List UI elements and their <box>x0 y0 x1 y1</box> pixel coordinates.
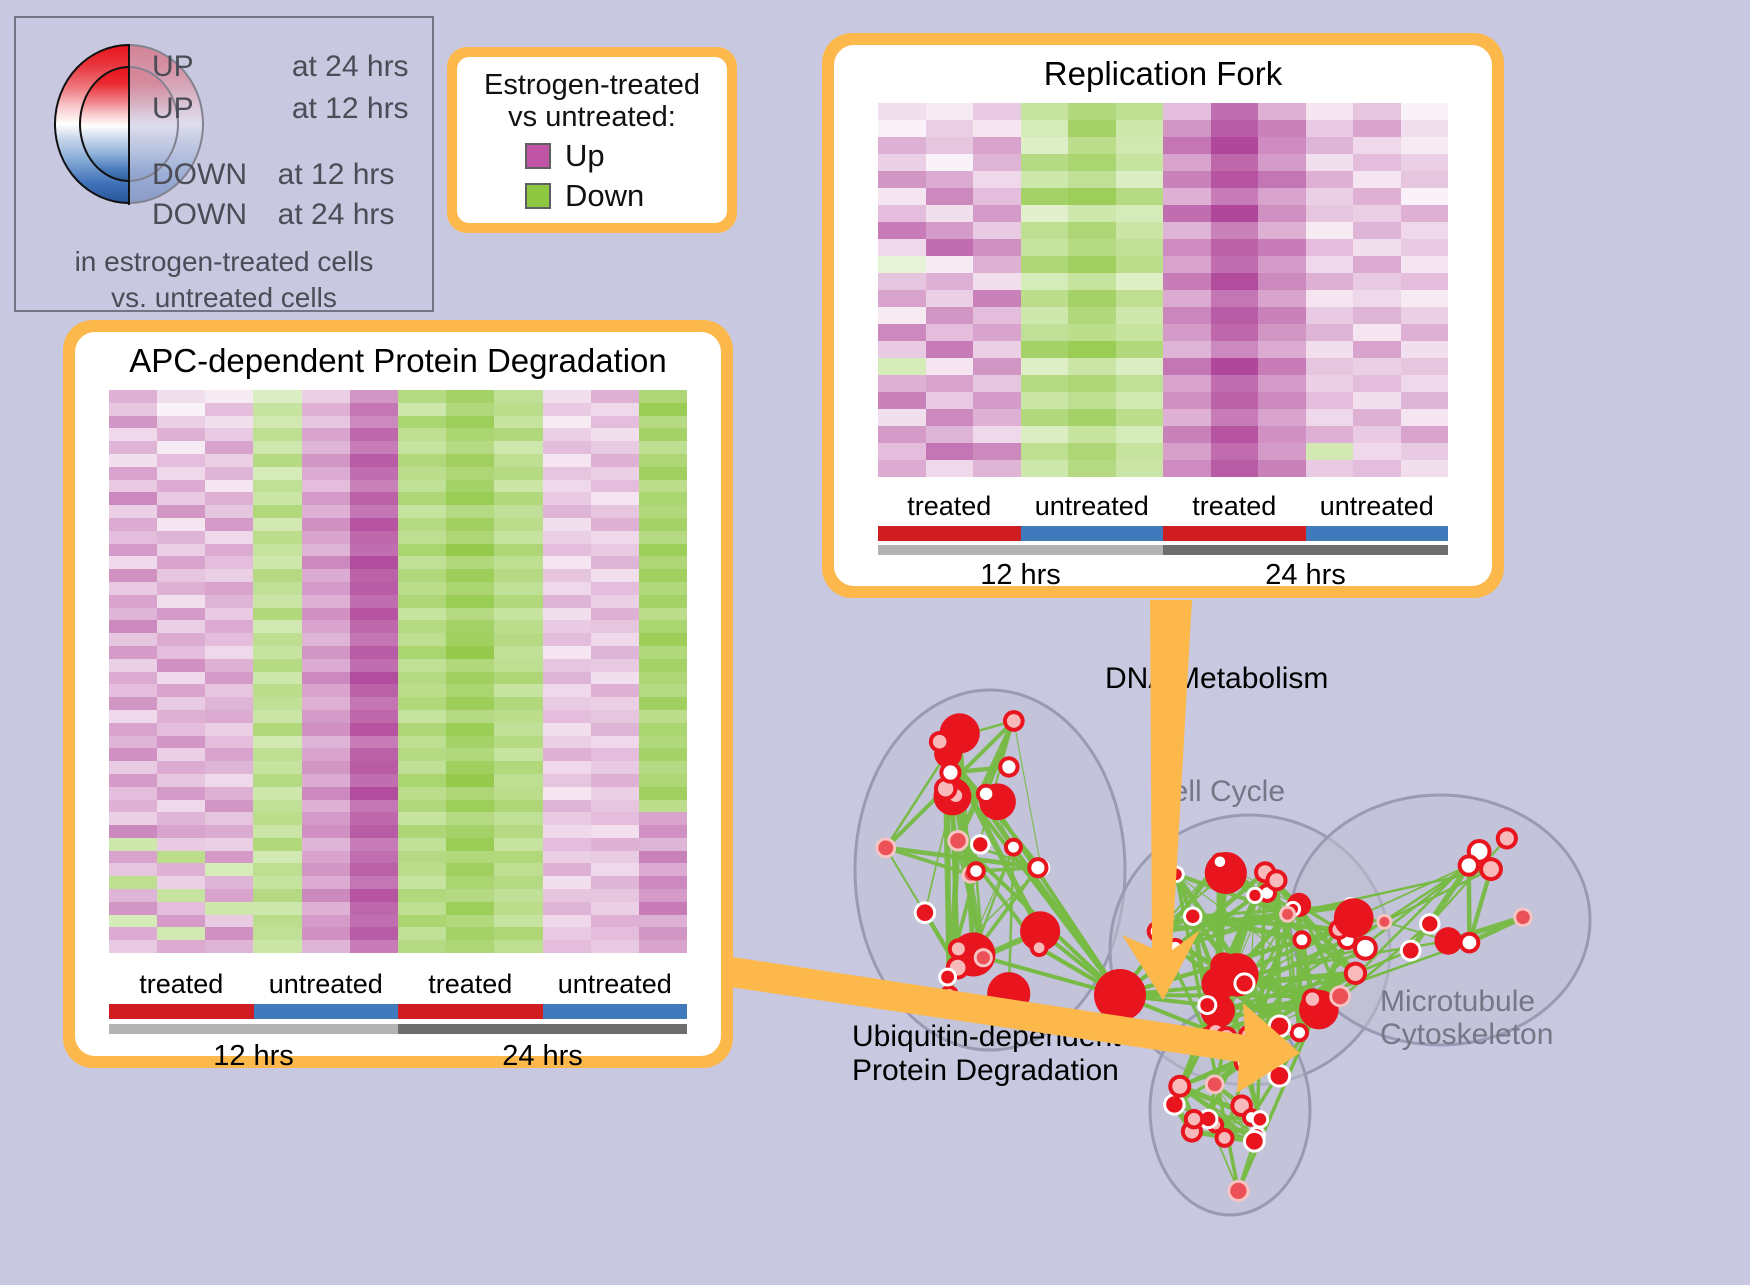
heatmap-cell <box>1021 358 1069 375</box>
heatmap-cell <box>205 800 253 813</box>
network-edge <box>1469 865 1470 942</box>
heatmap-cell <box>973 239 1021 256</box>
heatmap-cell <box>109 915 157 928</box>
heatmap-cell <box>1211 426 1259 443</box>
heatmap-cell <box>157 684 205 697</box>
heatmap-cell <box>973 341 1021 358</box>
heatmap-cell <box>205 659 253 672</box>
heatmap-cell <box>302 927 350 940</box>
network-node-core <box>1296 934 1307 945</box>
heatmap-cell <box>1116 188 1164 205</box>
heatmap-cell <box>543 851 591 864</box>
heatmap-cell <box>1211 256 1259 273</box>
heatmap-cell <box>494 825 542 838</box>
heatmap-cell <box>639 454 687 467</box>
heatmap-cell <box>109 748 157 761</box>
heatmap-cell <box>302 774 350 787</box>
heatmap-cell <box>398 748 446 761</box>
heatmap-cell <box>398 480 446 493</box>
axis-label-untreated-24: untreated <box>1306 491 1449 522</box>
heatmap-cell <box>1306 307 1354 324</box>
heatmap-cell <box>591 812 639 825</box>
heatmap-cell <box>157 390 205 403</box>
heatmap-cell <box>1163 392 1211 409</box>
heatmap-cell <box>157 902 205 915</box>
network-node-core <box>1007 714 1021 728</box>
network-node-core <box>970 865 982 877</box>
network-node-core <box>1188 1113 1200 1125</box>
heatmap-cell <box>350 403 398 416</box>
colorbar-divider <box>128 44 130 205</box>
heatmap-cell <box>1401 222 1449 239</box>
heatmap-cell <box>205 556 253 569</box>
heatmap-cell <box>639 620 687 633</box>
heatmap-cell <box>253 608 301 621</box>
heatmap-cell <box>302 480 350 493</box>
heatmap-cell <box>446 492 494 505</box>
heatmap-cell <box>1258 154 1306 171</box>
heatmap-cell <box>109 646 157 659</box>
heatmap-cell <box>591 633 639 646</box>
heatmap-cell <box>398 492 446 505</box>
heatmap-cell <box>543 710 591 723</box>
heatmap-cell <box>398 441 446 454</box>
heatmap-cell <box>1211 103 1259 120</box>
heatmap-cell <box>878 103 926 120</box>
heatmap-cell <box>302 428 350 441</box>
heatmap-cell <box>973 375 1021 392</box>
heatmap-cell <box>494 646 542 659</box>
heatmap-cell <box>302 454 350 467</box>
heatmap-cell <box>1306 205 1354 222</box>
heatmap-cell <box>205 633 253 646</box>
heatmap-cell <box>494 748 542 761</box>
heatmap-cell <box>253 582 301 595</box>
heatmap-cell <box>1021 375 1069 392</box>
heatmap-cell <box>973 443 1021 460</box>
network-node <box>878 840 893 855</box>
heatmap-cell <box>109 595 157 608</box>
heatmap-cell <box>350 748 398 761</box>
network-node <box>1332 988 1348 1004</box>
heatmap-cell <box>494 697 542 710</box>
heatmap-cell <box>350 774 398 787</box>
heatmap-cell <box>1068 256 1116 273</box>
heatmap-cell <box>591 441 639 454</box>
heatmap-cell <box>591 902 639 915</box>
heatmap-cell <box>1211 188 1259 205</box>
heatmap-cell <box>205 672 253 685</box>
heatmap-cell <box>205 902 253 915</box>
heatmap-cell <box>1068 222 1116 239</box>
network-node <box>1166 1096 1182 1112</box>
heatmap-cell <box>253 800 301 813</box>
heatmap-cell <box>543 428 591 441</box>
heatmap-cell <box>1163 154 1211 171</box>
heatmap-cell <box>1401 103 1449 120</box>
network-node <box>917 904 934 921</box>
heatmap-cell <box>1258 358 1306 375</box>
heatmap-cell <box>302 812 350 825</box>
heatmap-cell <box>878 154 926 171</box>
heatmap-cell <box>350 556 398 569</box>
heatmap-cell <box>1021 409 1069 426</box>
heatmap-cell <box>1068 324 1116 341</box>
heatmap-cell <box>1021 222 1069 239</box>
heatmap-cell <box>398 940 446 953</box>
time-label-12hrs: 12 hrs <box>878 559 1163 592</box>
heatmap-cell <box>157 748 205 761</box>
heatmap-cell <box>205 812 253 825</box>
heatmap-cell <box>494 480 542 493</box>
heatmap-cell <box>1211 273 1259 290</box>
heatmap-cell <box>109 480 157 493</box>
heatmap-cell <box>205 927 253 940</box>
heatmap-cell <box>494 684 542 697</box>
heatmap-cell <box>1353 290 1401 307</box>
heatmap-cell <box>302 825 350 838</box>
heatmap-cell <box>446 684 494 697</box>
heatmap-cell <box>350 454 398 467</box>
heatmap-cell <box>253 927 301 940</box>
heatmap-cell <box>1353 205 1401 222</box>
heatmap-cell <box>1353 222 1401 239</box>
heatmap-cell <box>398 723 446 736</box>
heatmap-cell <box>591 940 639 953</box>
heatmap-cell <box>1211 290 1259 307</box>
heatmap-cell <box>1258 171 1306 188</box>
colorbar-time-1: at 12 hrs <box>292 92 409 125</box>
heatmap-cell <box>446 876 494 889</box>
heatmap-cell <box>253 876 301 889</box>
heatmap-cell <box>253 646 301 659</box>
heatmap-cell <box>878 120 926 137</box>
heatmap-cell <box>1353 307 1401 324</box>
heatmap-cell <box>1068 205 1116 222</box>
colorbar-label-0: UP <box>152 50 193 83</box>
cluster-label-protein-degradation: Protein Degradation <box>852 1054 1121 1088</box>
heatmap-cell <box>253 812 301 825</box>
heatmap-cell <box>350 633 398 646</box>
heatmap-cell <box>205 416 253 429</box>
heatmap-cell <box>1116 341 1164 358</box>
colorbar-note-line1: in estrogen-treated cells <box>16 246 432 278</box>
legend-label-up: Up <box>565 138 605 174</box>
heatmap-cell <box>1353 341 1401 358</box>
heatmap-cell <box>494 889 542 902</box>
heatmap-cell <box>157 876 205 889</box>
heatmap-cell <box>1068 426 1116 443</box>
heatmap-cell <box>1258 375 1306 392</box>
heatmap-cell <box>1306 222 1354 239</box>
heatmap-cell <box>302 800 350 813</box>
network-node-core <box>1151 925 1164 938</box>
heatmap-cell <box>1068 120 1116 137</box>
heatmap-cell <box>109 390 157 403</box>
panel-title-apc: APC-dependent Protein Degradation <box>129 342 667 380</box>
heatmap-cell <box>157 569 205 582</box>
heatmap-cell <box>1353 358 1401 375</box>
heatmap-cell <box>350 531 398 544</box>
network-node-core <box>1483 861 1499 877</box>
heatmap-cell <box>1021 239 1069 256</box>
heatmap-cell <box>253 774 301 787</box>
heatmap-cell <box>157 544 205 557</box>
up-swatch-icon <box>525 143 551 169</box>
bar-12hrs <box>109 1024 398 1034</box>
heatmap-cell <box>973 290 1021 307</box>
heatmap-cell <box>157 531 205 544</box>
heatmap-cell <box>109 659 157 672</box>
heatmap-cell <box>543 595 591 608</box>
heatmap-cell <box>109 684 157 697</box>
heatmap-cell <box>1116 409 1164 426</box>
heatmap-cell <box>1163 239 1211 256</box>
heatmap-cell <box>350 697 398 710</box>
heatmap-cell <box>926 171 974 188</box>
heatmap-cell <box>639 403 687 416</box>
network-node-core <box>1500 831 1514 845</box>
heatmap-cell <box>1401 290 1449 307</box>
heatmap-cell <box>1353 256 1401 273</box>
heatmap-cell <box>157 556 205 569</box>
heatmap-cell <box>205 876 253 889</box>
heatmap-cell <box>350 851 398 864</box>
heatmap-cell <box>1211 392 1259 409</box>
heatmap-cell <box>109 569 157 582</box>
heatmap-cell <box>591 492 639 505</box>
heatmap-cell <box>302 659 350 672</box>
heatmap-cell <box>446 467 494 480</box>
heatmap-cell <box>398 428 446 441</box>
heatmap-cell <box>543 556 591 569</box>
heatmap-cell <box>446 710 494 723</box>
network-node <box>1334 898 1374 938</box>
heatmap-cell <box>302 940 350 953</box>
heatmap-cell <box>1021 426 1069 443</box>
heatmap-cell <box>1353 324 1401 341</box>
heatmap-cell <box>639 646 687 659</box>
heatmap-cell <box>157 454 205 467</box>
heatmap-cell <box>1353 443 1401 460</box>
heatmap-cell <box>109 889 157 902</box>
heatmap-cell <box>973 273 1021 290</box>
heatmap-cell <box>350 428 398 441</box>
heatmap-cell <box>639 825 687 838</box>
heatmap-cell <box>591 710 639 723</box>
heatmap-cell <box>926 409 974 426</box>
heatmap-apc-degradation <box>109 390 687 953</box>
heatmap-cell <box>109 851 157 864</box>
heatmap-cell <box>205 569 253 582</box>
heatmap-cell <box>543 416 591 429</box>
heatmap-cell <box>639 876 687 889</box>
heatmap-cell <box>1211 341 1259 358</box>
heatmap-cell <box>878 324 926 341</box>
network-node-core <box>1306 992 1319 1005</box>
cluster-label-ubiquitin: Ubiquitin-dependent <box>852 1020 1121 1054</box>
heatmap-cell <box>157 889 205 902</box>
heatmap-cell <box>302 467 350 480</box>
heatmap-cell <box>494 812 542 825</box>
heatmap-cell <box>591 595 639 608</box>
heatmap-cell <box>398 531 446 544</box>
heatmap-cell <box>302 531 350 544</box>
heatmap-cell <box>446 748 494 761</box>
network-node-core <box>1269 873 1283 887</box>
heatmap-cell <box>639 800 687 813</box>
heatmap-cell <box>543 812 591 825</box>
heatmap-cell <box>157 851 205 864</box>
bar-untreated-12 <box>1021 526 1164 541</box>
heatmap-cell <box>973 358 1021 375</box>
heatmap-cell <box>543 838 591 851</box>
heatmap-cell <box>1306 256 1354 273</box>
heatmap-cell <box>302 748 350 761</box>
heatmap-cell <box>494 582 542 595</box>
heatmap-cell <box>1021 154 1069 171</box>
colorbar-time-2: at 12 hrs <box>278 158 395 191</box>
heatmap-cell <box>1258 426 1306 443</box>
heatmap-cell <box>591 787 639 800</box>
heatmap-cell <box>1258 392 1306 409</box>
heatmap-cell <box>926 188 974 205</box>
heatmap-cell <box>157 825 205 838</box>
heatmap-cell <box>494 863 542 876</box>
heatmap-cell <box>973 171 1021 188</box>
heatmap-cell <box>494 710 542 723</box>
network-node-core <box>1034 942 1045 953</box>
heatmap-cell <box>543 646 591 659</box>
heatmap-cell <box>1401 154 1449 171</box>
heatmap-cell <box>1068 358 1116 375</box>
heatmap-cell <box>109 876 157 889</box>
heatmap-cell <box>1021 341 1069 358</box>
heatmap-cell <box>543 736 591 749</box>
heatmap-cell <box>639 556 687 569</box>
heatmap-cell <box>350 505 398 518</box>
heatmap-cell <box>398 505 446 518</box>
heatmap-cell <box>302 569 350 582</box>
heatmap-cell <box>639 736 687 749</box>
heatmap-cell <box>543 454 591 467</box>
time-bar-replication <box>878 545 1448 555</box>
heatmap-cell <box>350 646 398 659</box>
heatmap-cell <box>253 428 301 441</box>
heatmap-cell <box>398 889 446 902</box>
heatmap-cell <box>878 239 926 256</box>
heatmap-cell <box>878 307 926 324</box>
heatmap-cell <box>926 358 974 375</box>
heatmap-cell <box>302 620 350 633</box>
heatmap-cell <box>591 582 639 595</box>
heatmap-cell <box>591 390 639 403</box>
heatmap-cell <box>205 390 253 403</box>
heatmap-cell <box>350 761 398 774</box>
network-node-core <box>943 765 957 779</box>
heatmap-cell <box>1116 137 1164 154</box>
heatmap-cell <box>1211 307 1259 324</box>
heatmap-cell <box>350 659 398 672</box>
heatmap-cell <box>1021 205 1069 222</box>
heatmap-cell <box>973 154 1021 171</box>
heatmap-cell <box>109 902 157 915</box>
heatmap-cell <box>205 787 253 800</box>
heatmap-cell <box>926 137 974 154</box>
heatmap-cell <box>1401 409 1449 426</box>
network-node-core <box>980 788 992 800</box>
heatmap-cell <box>350 492 398 505</box>
heatmap-cell <box>1021 443 1069 460</box>
axis-labels-replication: treated untreated treated untreated <box>878 491 1448 522</box>
heatmap-cell <box>543 582 591 595</box>
network-node-core <box>1215 856 1226 867</box>
heatmap-cell <box>878 205 926 222</box>
heatmap-cell <box>157 646 205 659</box>
heatmap-cell <box>253 736 301 749</box>
heatmap-cell <box>205 838 253 851</box>
heatmap-cell <box>398 787 446 800</box>
heatmap-cell <box>253 710 301 723</box>
cluster-label-microtubule-cytoskeleton: Microtubule Cytoskeleton <box>1380 985 1553 1051</box>
heatmap-cell <box>446 403 494 416</box>
heatmap-cell <box>253 697 301 710</box>
heatmap-cell <box>1306 409 1354 426</box>
heatmap-cell <box>446 620 494 633</box>
heatmap-cell <box>205 403 253 416</box>
heatmap-cell <box>591 467 639 480</box>
heatmap-cell <box>1163 375 1211 392</box>
heatmap-cell <box>1258 188 1306 205</box>
heatmap-cell <box>494 940 542 953</box>
heatmap-cell <box>494 723 542 736</box>
heatmap-cell <box>398 838 446 851</box>
heatmap-cell <box>494 505 542 518</box>
heatmap-cell <box>639 428 687 441</box>
network-node <box>1249 890 1260 901</box>
heatmap-cell <box>205 480 253 493</box>
time-label-12hrs: 12 hrs <box>109 1040 398 1073</box>
heatmap-cell <box>109 428 157 441</box>
heatmap-cell <box>973 307 1021 324</box>
heatmap-cell <box>1306 375 1354 392</box>
heatmap-cell <box>639 633 687 646</box>
heatmap-cell <box>1068 273 1116 290</box>
heatmap-cell <box>1258 307 1306 324</box>
heatmap-cell <box>494 467 542 480</box>
heatmap-cell <box>878 171 926 188</box>
heatmap-cell <box>253 544 301 557</box>
heatmap-cell <box>1163 443 1211 460</box>
heatmap-cell <box>1068 409 1116 426</box>
heatmap-cell <box>1163 137 1211 154</box>
colorbar-label-1: UP <box>152 92 193 125</box>
heatmap-cell <box>157 761 205 774</box>
heatmap-cell <box>543 774 591 787</box>
heatmap-cell <box>1258 256 1306 273</box>
heatmap-cell <box>253 441 301 454</box>
heatmap-cell <box>205 825 253 838</box>
heatmap-cell <box>1068 460 1116 477</box>
heatmap-cell <box>1021 273 1069 290</box>
heatmap-cell <box>157 774 205 787</box>
heatmap-cell <box>591 569 639 582</box>
heatmap-cell <box>543 390 591 403</box>
heatmap-cell <box>543 940 591 953</box>
heatmap-cell <box>350 800 398 813</box>
heatmap-cell <box>253 454 301 467</box>
heatmap-cell <box>591 825 639 838</box>
